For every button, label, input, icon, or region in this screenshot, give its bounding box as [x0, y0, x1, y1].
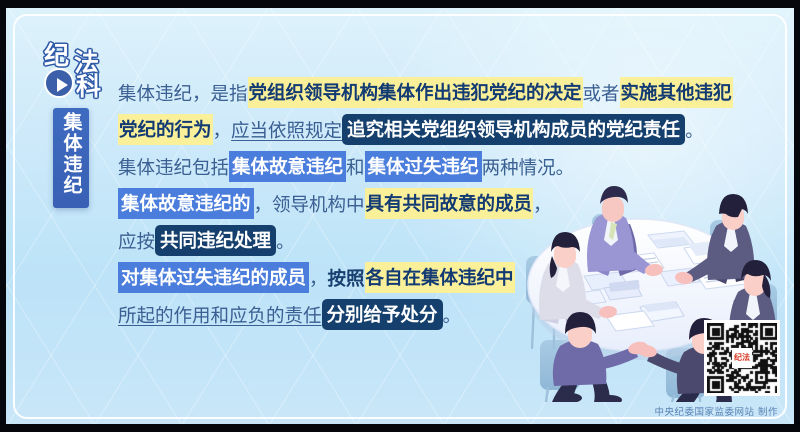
text-segment-highlight-blue: 对集体过失违纪的成员 [118, 262, 309, 293]
credit-line: 中央纪委国家监委网站 制作 [654, 404, 778, 418]
text-segment-highlight-yellow: 具有共同故意的成员 [365, 188, 534, 219]
text-segment-highlight-blue: 集体过失违纪 [365, 151, 482, 182]
text-segment-highlight-yellow: 实施其他违犯 [620, 77, 733, 108]
qr-code[interactable]: 纪法 [704, 320, 780, 396]
text-segment-plain: 和 [346, 154, 365, 180]
definition-text-line: 集体违纪包括集体故意违纪和集体过失违纪两种情况。 [118, 148, 758, 185]
text-segment-plain: ，领导机构中 [254, 191, 365, 217]
definition-text-line: 所起的作用和应负的责任分别给予处分。 [118, 296, 758, 333]
brand-logo: 纪 法 科 [36, 41, 122, 103]
letterbox-top [0, 0, 800, 8]
logo-char-ji: 纪 [44, 43, 69, 68]
screenshot-stage: 纪 法 科 集体违纪 集体违纪，是指党组织领导机构集体作出违犯党纪的决定或者实施… [0, 0, 800, 432]
text-segment-plain: 两种情况。 [482, 154, 575, 180]
letterbox-bottom [0, 424, 800, 432]
text-segment-plain: ， [213, 117, 232, 143]
text-segment-highlight-yellow: 党纪的行为 [118, 114, 213, 145]
logo-circle [44, 68, 74, 98]
text-segment-highlight-blue: 集体故意违纪 [229, 151, 346, 182]
text-segment-plain: 。 [276, 228, 295, 254]
logo-char-ke: 科 [76, 74, 101, 99]
vertical-title-banner: 集体违纪 [53, 108, 89, 208]
text-segment-highlight-yellow: 党组织领导机构集体作出违犯党纪的决定 [248, 77, 583, 108]
definition-text-line: 应按共同违纪处理。 [118, 222, 758, 259]
text-segment-underline: 所起的作用和应负的责任 [118, 302, 322, 328]
definition-text-line: 集体违纪，是指党组织领导机构集体作出违犯党纪的决定或者实施其他违犯 [118, 74, 758, 111]
text-segment-bold-navy: 按照 [328, 265, 365, 291]
definition-text-block: 集体违纪，是指党组织领导机构集体作出违犯党纪的决定或者实施其他违犯党纪的行为，应… [118, 74, 758, 333]
text-segment-highlight-navy: 追究相关党组织领导机构成员的党纪责任 [342, 114, 685, 145]
text-segment-plain: 或者 [583, 80, 620, 106]
text-segment-plain: 集体违纪，是指 [118, 80, 248, 106]
text-segment-plain: ， [309, 265, 328, 291]
text-segment-plain: 集体违纪包括 [118, 154, 229, 180]
definition-text-line: 对集体过失违纪的成员，按照各自在集体违纪中 [118, 259, 758, 296]
vertical-title-text: 集体违纪 [62, 112, 81, 196]
definition-text-line: 党纪的行为，应当依照规定追究相关党组织领导机构成员的党纪责任。 [118, 111, 758, 148]
text-segment-plain: ， [533, 191, 552, 217]
text-segment-highlight-blue: 集体故意违纪的 [118, 188, 254, 219]
qr-code-center-logo: 纪法 [732, 348, 752, 368]
text-segment-underline: 应当依照规定 [231, 117, 342, 143]
text-segment-plain: 。 [685, 117, 704, 143]
text-segment-plain: 应按 [118, 228, 155, 254]
play-triangle-icon [57, 78, 68, 92]
letterbox-right [794, 0, 800, 432]
definition-text-line: 集体故意违纪的，领导机构中具有共同故意的成员， [118, 185, 758, 222]
qr-code-center-text: 纪法 [734, 354, 750, 362]
text-segment-highlight-navy: 分别给予处分 [322, 299, 443, 330]
poster-card: 纪 法 科 集体违纪 集体违纪，是指党组织领导机构集体作出违犯党纪的决定或者实施… [6, 8, 794, 424]
text-segment-highlight-navy: 共同违纪处理 [155, 225, 276, 256]
text-segment-highlight-yellow: 各自在集体违纪中 [365, 262, 515, 293]
text-segment-plain: 。 [443, 302, 462, 328]
